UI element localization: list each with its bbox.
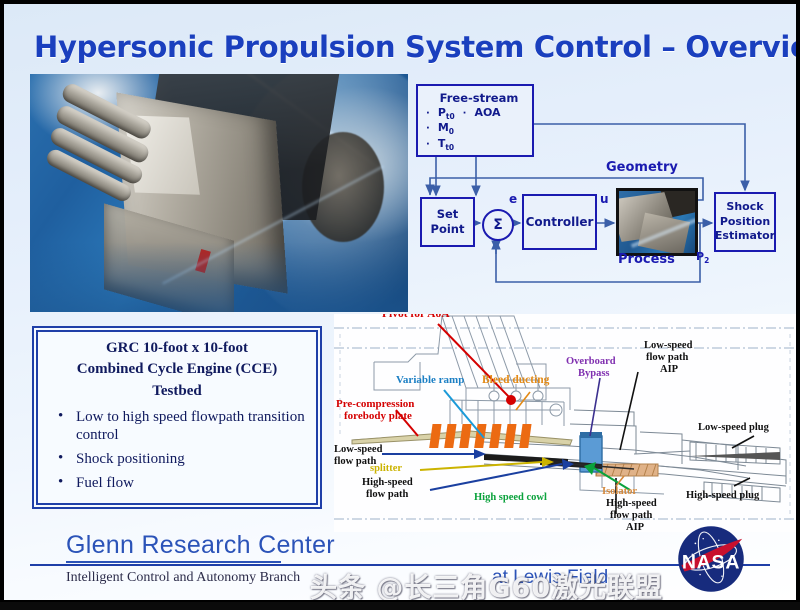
glenn-underline — [66, 561, 281, 563]
schematic-label-high-speed-plug: High-speed plug — [686, 490, 759, 502]
schematic-label-ls-path-1: Low-speed — [334, 444, 382, 456]
cce-testbed-textbox: GRC 10-foot x 10-foot Combined Cycle Eng… — [32, 326, 322, 509]
schematic-label-hs-aip-3: AIP — [626, 522, 644, 532]
free-stream-box: Free-stream · Pt0 · AOA · M0 · Tt0 — [416, 84, 534, 157]
bullet-icon: · — [426, 139, 430, 152]
free-stream-m-0: M0 — [438, 121, 454, 137]
textbox-heading-line-2: Combined Cycle Engine (CCE) — [46, 359, 308, 380]
textbox-heading-line-1: GRC 10-foot x 10-foot — [46, 338, 308, 359]
engine-flowpath-schematic: Pivot for AoA Variable ramp Pre-compress… — [334, 314, 796, 532]
schematic-label-splitter: splitter — [370, 463, 402, 475]
branch-label: Intelligent Control and Autonomy Branch — [66, 570, 300, 586]
process-block-image — [616, 188, 698, 256]
shock-estimator-line-3: Estimator — [715, 229, 775, 244]
bullet-icon: · — [426, 108, 430, 121]
schematic-label-overboard-1: Overboard — [566, 356, 616, 368]
presentation-slide: Hypersonic Propulsion System Control – O… — [4, 4, 796, 600]
schematic-label-variable-ramp: Variable ramp — [396, 374, 464, 386]
error-signal-label: e — [509, 192, 517, 206]
free-stream-row-2: · M0 — [426, 121, 454, 137]
schematic-label-high-speed-cowl: High speed cowl — [474, 492, 547, 504]
schematic-label-overboard-2: Bypass — [578, 368, 610, 380]
schematic-label-ls-aip-1: Low-speed — [644, 340, 692, 352]
free-stream-t-t0: Tt0 — [438, 137, 454, 153]
schematic-label-hs-aip-1: High-speed — [606, 498, 657, 510]
schematic-label-pivot-for-aoa: Pivot for AoA — [382, 314, 450, 321]
textbox-bullet-list: Low to high speed flowpath transition co… — [46, 408, 308, 492]
control-block-diagram: Free-stream · Pt0 · AOA · M0 · Tt0 Set P… — [408, 82, 780, 294]
schematic-label-hs-aip-2: flow path — [610, 510, 652, 522]
bullet-icon: · — [463, 108, 467, 121]
list-item: Fuel flow — [50, 474, 308, 493]
set-point-line-1: Set — [437, 207, 459, 222]
schematic-label-low-speed-plug: Low-speed plug — [698, 422, 769, 434]
schematic-label-precompression-1: Pre-compression — [336, 398, 414, 410]
set-point-line-2: Point — [431, 222, 465, 237]
control-signal-label: u — [600, 192, 609, 206]
cce-testbed-photo — [30, 74, 408, 312]
list-item: Low to high speed flowpath transition co… — [50, 408, 308, 445]
photo-floor-glow — [30, 242, 408, 312]
geometry-label: Geometry — [606, 160, 678, 175]
bullet-icon: · — [426, 123, 430, 136]
schematic-label-hs-path-1: High-speed — [362, 477, 413, 489]
free-stream-p-t0: Pt0 — [438, 106, 455, 122]
watermark-text: 头条 @长三角G60激光联盟 — [310, 566, 770, 600]
summing-junction: Σ — [482, 209, 514, 241]
process-label: Process — [618, 252, 675, 267]
controller-block: Controller — [522, 194, 597, 250]
shock-estimator-line-2: Position — [720, 215, 770, 230]
shock-position-estimator-block: Shock Position Estimator — [714, 192, 776, 252]
schematic-label-ls-aip-3: AIP — [660, 364, 678, 376]
shock-estimator-line-1: Shock — [726, 200, 763, 215]
schematic-label-bleed-ducting: Bleed ducting — [482, 374, 549, 387]
schematic-label-hs-path-2: flow path — [366, 489, 408, 501]
p2-signal-label: P2 — [696, 250, 709, 265]
page-title: Hypersonic Propulsion System Control – O… — [34, 30, 774, 64]
list-item: Shock positioning — [50, 450, 308, 469]
free-stream-header: Free-stream — [426, 91, 540, 106]
bottom-bar — [0, 602, 800, 610]
schematic-label-ls-aip-2: flow path — [646, 352, 688, 364]
free-stream-row-3: · Tt0 — [426, 137, 454, 153]
free-stream-aoa: AOA — [474, 106, 500, 120]
set-point-block: Set Point — [420, 197, 475, 247]
glenn-research-center-label: Glenn Research Center — [66, 531, 335, 560]
textbox-heading-line-3: Testbed — [46, 381, 308, 402]
schematic-label-precompression-2: forebody plate — [344, 410, 412, 422]
free-stream-row-1: · Pt0 · AOA — [426, 106, 501, 122]
schematic-label-isolator: Isolator — [602, 486, 637, 498]
